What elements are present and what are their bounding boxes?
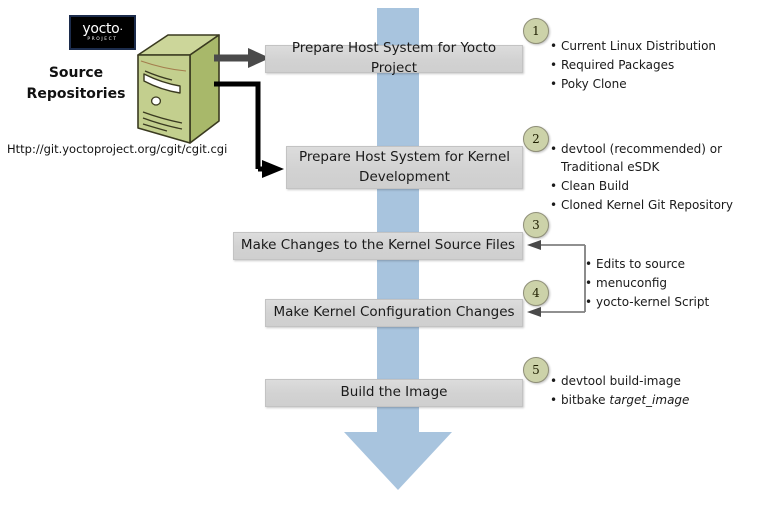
- yocto-logo-dot: ·: [119, 23, 122, 36]
- step-badge-4: 4: [523, 280, 549, 306]
- diagram-canvas: yocto· PROJECT Source Repositories Http:…: [0, 0, 769, 517]
- callout-item: devtool (recommended) or Traditional eSD…: [561, 140, 760, 176]
- callout-item: Edits to source: [596, 255, 758, 273]
- callout-item: Current Linux Distribution: [561, 37, 763, 55]
- yocto-project-logo: yocto· PROJECT: [69, 15, 136, 50]
- step-badge-5: 5: [523, 357, 549, 383]
- process-box-step-3[interactable]: Make Changes to the Kernel Source Files: [233, 232, 523, 260]
- source-label-line-2: Repositories: [16, 84, 136, 105]
- process-box-step-5[interactable]: Build the Image: [265, 379, 523, 407]
- yocto-logo-subtitle: PROJECT: [87, 38, 117, 42]
- callout-list-steps-3-4: Edits to source menuconfig yocto-kernel …: [583, 255, 758, 311]
- callout-step-5: devtool build-image bitbake target_image: [548, 372, 748, 410]
- callout-item: Required Packages: [561, 56, 763, 74]
- callout-steps-3-4: Edits to source menuconfig yocto-kernel …: [583, 255, 758, 312]
- server-tower-icon: [134, 33, 222, 145]
- callout-list-step-1: Current Linux Distribution Required Pack…: [548, 37, 763, 93]
- callout-item: yocto-kernel Script: [596, 293, 758, 311]
- callout-item: devtool build-image: [561, 372, 748, 390]
- source-label-line-1: Source: [16, 63, 136, 84]
- callout-item-italic-text: target_image: [609, 393, 689, 407]
- yocto-logo-word-text: yocto: [82, 21, 119, 37]
- callout-item: menuconfig: [596, 274, 758, 292]
- callout-step-1: Current Linux Distribution Required Pack…: [548, 37, 763, 94]
- step-badge-2: 2: [523, 126, 549, 152]
- connector-server-to-step2: [214, 78, 294, 178]
- source-repositories-label: Source Repositories: [16, 63, 136, 105]
- process-box-step-1[interactable]: Prepare Host System for Yocto Project: [265, 45, 523, 73]
- callout-item-text: bitbake: [561, 393, 609, 407]
- step-badge-3: 3: [523, 212, 549, 238]
- callout-list-step-2: devtool (recommended) or Traditional eSD…: [548, 140, 760, 214]
- callout-item: bitbake target_image: [561, 391, 748, 409]
- yocto-logo-wordmark: yocto·: [82, 22, 122, 36]
- callout-item: Clean Build: [561, 177, 760, 195]
- callout-item: Poky Clone: [561, 75, 763, 93]
- callout-step-2: devtool (recommended) or Traditional eSD…: [548, 140, 760, 215]
- callout-list-step-5: devtool build-image bitbake target_image: [548, 372, 748, 409]
- callout-item: Cloned Kernel Git Repository: [561, 196, 760, 214]
- process-box-step-4[interactable]: Make Kernel Configuration Changes: [265, 299, 523, 327]
- flow-arrow-head: [344, 432, 452, 490]
- step-badge-1: 1: [523, 18, 549, 44]
- process-box-step-2[interactable]: Prepare Host System for Kernel Developme…: [286, 146, 523, 189]
